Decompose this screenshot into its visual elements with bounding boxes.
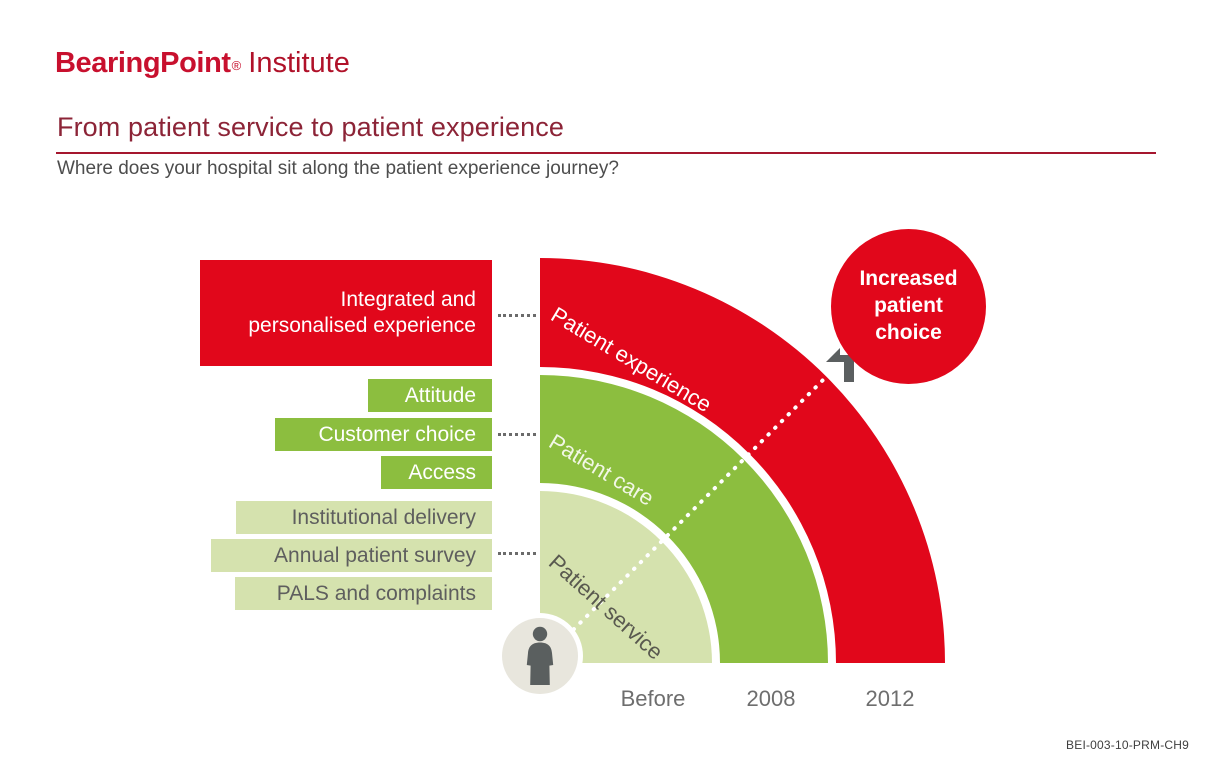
label-box-text: Attitude [405, 383, 476, 409]
axis-label-2012: 2012 [842, 686, 938, 712]
brand-suffix: Institute [248, 47, 350, 79]
brand-name: BearingPoint [55, 47, 231, 79]
connector-patient-service [498, 552, 536, 558]
patient-person-icon [497, 613, 583, 699]
label-box-integrated-personalised-experience[interactable]: Integrated and personalised experience [200, 260, 492, 366]
callout-text: Increased patient choice [859, 266, 957, 347]
axis-label-before: Before [605, 686, 701, 712]
arc-band-patient-care [540, 375, 828, 663]
label-box-text: Integrated and personalised experience [248, 287, 476, 338]
label-box-customer-choice[interactable]: Customer choice [275, 418, 492, 451]
axis-label-2008: 2008 [723, 686, 819, 712]
label-box-text: PALS and complaints [277, 581, 476, 607]
label-box-text: Access [408, 460, 476, 486]
label-box-text: Institutional delivery [292, 505, 476, 531]
arc-label-patient-care: Patient care [544, 429, 658, 512]
brand-logo: BearingPoint®Institute [55, 47, 350, 80]
label-box-text: Customer choice [318, 422, 476, 448]
page-title: From patient service to patient experien… [57, 112, 564, 143]
label-box-institutional-delivery[interactable]: Institutional delivery [236, 501, 492, 534]
callout-increased-patient-choice[interactable]: Increased patient choice [831, 229, 986, 384]
label-box-attitude[interactable]: Attitude [368, 379, 492, 412]
registered-trademark-icon: ® [232, 58, 242, 73]
label-box-text: Annual patient survey [274, 543, 476, 569]
label-box-pals-and-complaints[interactable]: PALS and complaints [235, 577, 492, 610]
label-box-annual-patient-survey[interactable]: Annual patient survey [211, 539, 492, 572]
page-subtitle: Where does your hospital sit along the p… [57, 158, 619, 180]
connector-patient-experience [498, 314, 536, 320]
connector-patient-care [498, 433, 536, 439]
document-reference-code: BEI-003-10-PRM-CH9 [1066, 738, 1189, 752]
arc-label-patient-experience: Patient experience [546, 302, 716, 418]
label-box-access[interactable]: Access [381, 456, 492, 489]
title-divider [56, 152, 1156, 154]
